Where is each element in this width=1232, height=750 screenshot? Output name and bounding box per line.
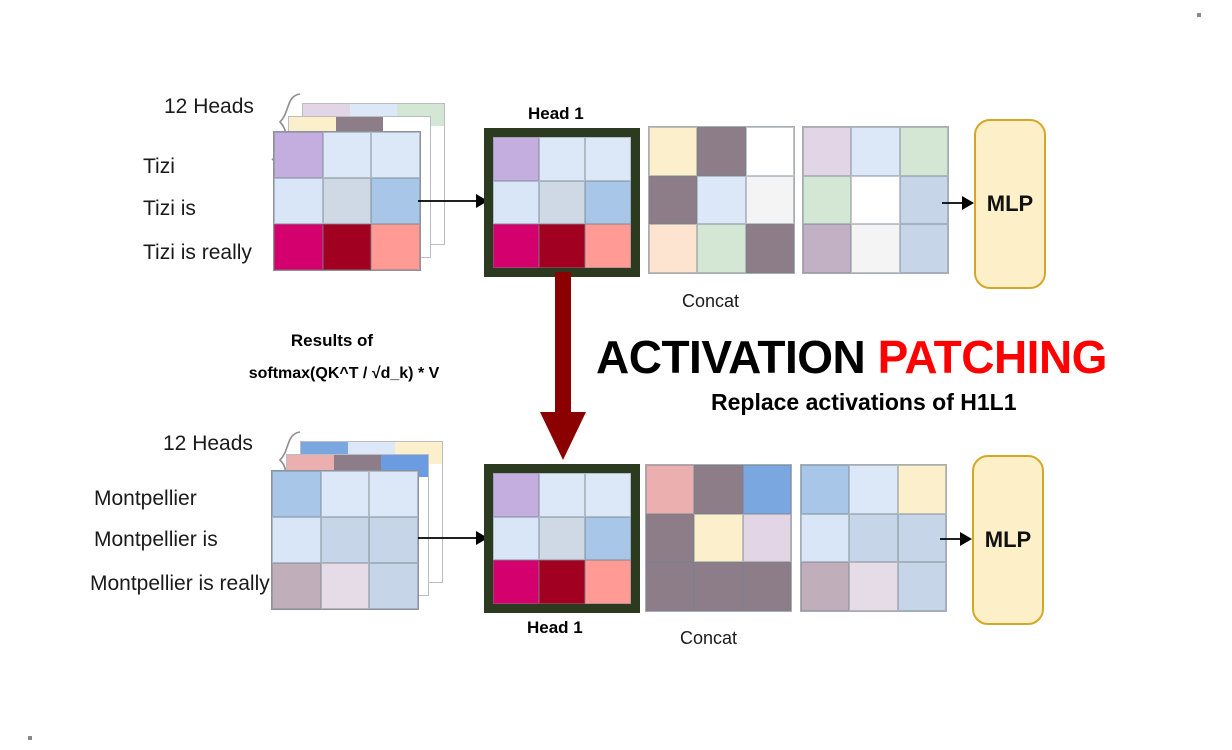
matrix-cell [493,560,539,604]
patched-mlp-box: MLP [972,455,1044,625]
matrix-cell [321,471,370,517]
clean-token-label-0: Tizi [143,155,175,179]
matrix-cell [539,517,585,561]
patched-token-label-1: Montpellier is [94,528,218,552]
clean-concat-matrix-1 [648,126,795,274]
corner-dot-bottom-left [28,736,32,740]
matrix-cell [646,514,694,563]
matrix-cell [697,224,745,273]
matrix-cell [493,181,539,225]
matrix-cell [321,517,370,563]
patched-head1-box [484,464,640,613]
clean-head1-box [484,128,640,277]
clean-head1-matrix [493,137,631,268]
patched-attention-matrix [271,470,419,610]
matrix-cell [801,562,849,611]
matrix-cell [898,465,946,514]
results-caption-line2: softmax(QK^T / √d_k) * V [222,365,466,383]
matrix-cell [746,176,794,225]
title-activation: ACTIVATION [596,331,865,383]
matrix-cell [274,224,323,270]
clean-mlp-label: MLP [987,191,1033,217]
matrix-cell [371,178,420,224]
matrix-cell [694,514,742,563]
matrix-cell [746,127,794,176]
matrix-cell [493,517,539,561]
matrix-cell [803,127,851,176]
matrix-cell [585,181,631,225]
clean-mlp-box: MLP [974,119,1046,289]
matrix-cell [743,562,791,611]
matrix-cell [585,224,631,268]
matrix-cell [697,176,745,225]
patching-arrow [530,272,596,464]
matrix-cell [646,562,694,611]
matrix-cell [803,224,851,273]
clean-arrow-to-mlp [942,192,974,214]
patched-heads-label: 12 Heads [163,432,253,456]
matrix-cell [743,514,791,563]
patched-arrow-to-head [418,527,488,549]
patched-token-label-2: Montpellier is really [90,572,270,596]
matrix-cell [801,514,849,563]
matrix-cell [697,127,745,176]
matrix-cell [803,176,851,225]
matrix-cell [585,473,631,517]
matrix-cell [746,224,794,273]
matrix-cell [272,517,321,563]
matrix-cell [539,224,585,268]
clean-token-label-2: Tizi is really [143,241,252,265]
patched-head-title: Head 1 [527,618,583,638]
matrix-cell [272,471,321,517]
patched-mlp-label: MLP [985,527,1031,553]
matrix-cell [369,471,418,517]
clean-concat-label: Concat [682,291,739,312]
clean-concat-matrix-2 [802,126,949,274]
matrix-cell [900,224,948,273]
matrix-cell [801,465,849,514]
matrix-cell [851,176,899,225]
diagram-canvas: 12 Heads Tizi Tizi is Tizi is really [0,0,1232,750]
matrix-cell [274,178,323,224]
clean-attention-matrix [273,131,421,271]
matrix-cell [851,224,899,273]
clean-arrow-to-head [418,190,488,212]
matrix-cell [646,465,694,514]
patched-arrow-to-mlp [940,528,972,550]
matrix-cell [649,127,697,176]
patched-concat-label: Concat [680,628,737,649]
matrix-cell [539,137,585,181]
clean-heads-label: 12 Heads [164,95,254,119]
clean-token-label-1: Tizi is [143,197,196,221]
matrix-cell [371,224,420,270]
matrix-cell [900,127,948,176]
matrix-cell [539,181,585,225]
patched-concat-matrix-1 [645,464,792,612]
matrix-cell [849,514,897,563]
activation-patching-title: ACTIVATION PATCHING [596,330,1107,384]
matrix-cell [323,178,372,224]
activation-patching-subtitle: Replace activations of H1L1 [711,389,1017,416]
matrix-cell [585,137,631,181]
patched-token-label-0: Montpellier [94,487,197,511]
corner-dot-top-right [1197,13,1201,17]
clean-head-title: Head 1 [528,104,584,124]
matrix-cell [900,176,948,225]
matrix-cell [898,562,946,611]
matrix-cell [369,563,418,609]
matrix-cell [743,465,791,514]
matrix-cell [493,224,539,268]
matrix-cell [649,224,697,273]
matrix-cell [274,132,323,178]
matrix-cell [369,517,418,563]
matrix-cell [493,473,539,517]
matrix-cell [694,465,742,514]
patched-head1-matrix [493,473,631,604]
matrix-cell [323,132,372,178]
matrix-cell [323,224,372,270]
matrix-cell [898,514,946,563]
matrix-cell [371,132,420,178]
patched-concat-matrix-2 [800,464,947,612]
matrix-cell [585,560,631,604]
matrix-cell [539,473,585,517]
matrix-cell [539,560,585,604]
matrix-cell [585,517,631,561]
matrix-cell [272,563,321,609]
results-caption-line1: Results of [232,331,432,351]
matrix-cell [649,176,697,225]
matrix-cell [321,563,370,609]
matrix-cell [851,127,899,176]
matrix-cell [849,465,897,514]
matrix-cell [493,137,539,181]
matrix-cell [849,562,897,611]
title-patching: PATCHING [878,331,1107,383]
matrix-cell [694,562,742,611]
